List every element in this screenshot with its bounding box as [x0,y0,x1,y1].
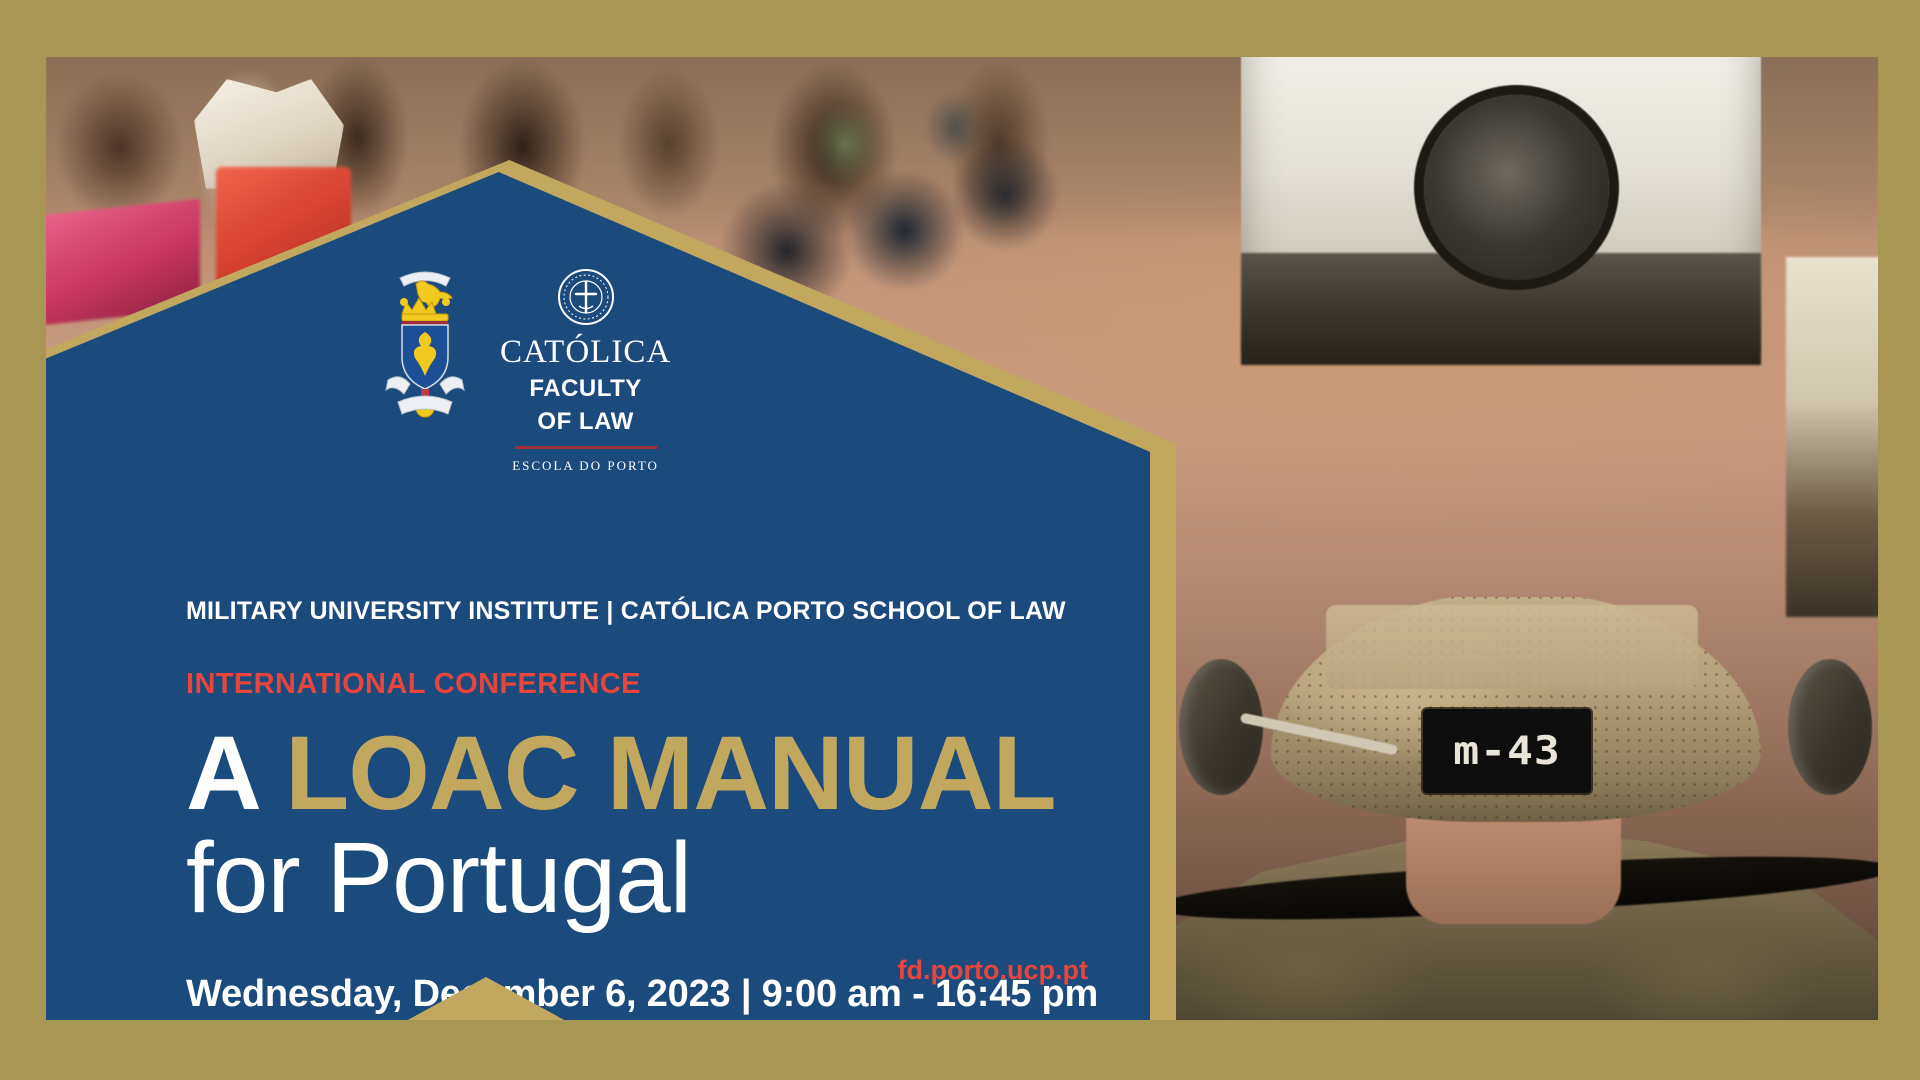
poster-text-block: MILITARY UNIVERSITY INSTITUTE | CATÓLICA… [186,597,1136,1067]
helmet-band [1326,605,1698,689]
headset-earcup-left-icon [1179,659,1263,795]
military-university-institute-crest [376,262,474,427]
soldier-figure: m-43 [1161,597,1878,1020]
title-word-white: A [186,715,257,832]
organisers-line: MILITARY UNIVERSITY INSTITUTE | CATÓLICA… [186,597,1136,626]
catolica-faculty-line1: FACULTY [500,376,671,402]
page-title-line1: A LOAC MANUAL [186,723,1136,825]
headset-earcup-right-icon [1788,659,1872,795]
catolica-escola-label: ESCOLA DO PORTO [500,458,671,474]
helmet-patch-text: m-43 [1453,728,1561,774]
helmet-name-patch: m-43 [1423,709,1591,793]
panel-blue-face: CATÓLICA FACULTY OF LAW ESCOLA DO PORTO … [46,172,1150,1020]
website-url-link[interactable]: fd.porto.ucp.pt [898,955,1088,986]
catolica-seal-icon [557,268,615,326]
catolica-faculty-line2: OF LAW [500,409,671,435]
catolica-logo: CATÓLICA FACULTY OF LAW ESCOLA DO PORTO [500,262,671,474]
spare-tyre [1424,95,1609,280]
bystander-figure [1786,257,1878,617]
event-venue: Instituto Universitário Militar,Lisboa [186,1024,1136,1067]
logo-row: CATÓLICA FACULTY OF LAW ESCOLA DO PORTO [376,262,671,474]
catolica-wordmark: CATÓLICA [500,336,671,369]
title-word-gold: LOAC MANUAL [285,715,1056,832]
info-panel: CATÓLICA FACULTY OF LAW ESCOLA DO PORTO … [46,160,1176,1020]
catolica-divider [515,446,657,449]
conference-poster: m-43 [0,0,1920,1080]
event-type-label: INTERNATIONAL CONFERENCE [186,668,1136,701]
page-title-line2: for Portugal [186,827,1136,929]
